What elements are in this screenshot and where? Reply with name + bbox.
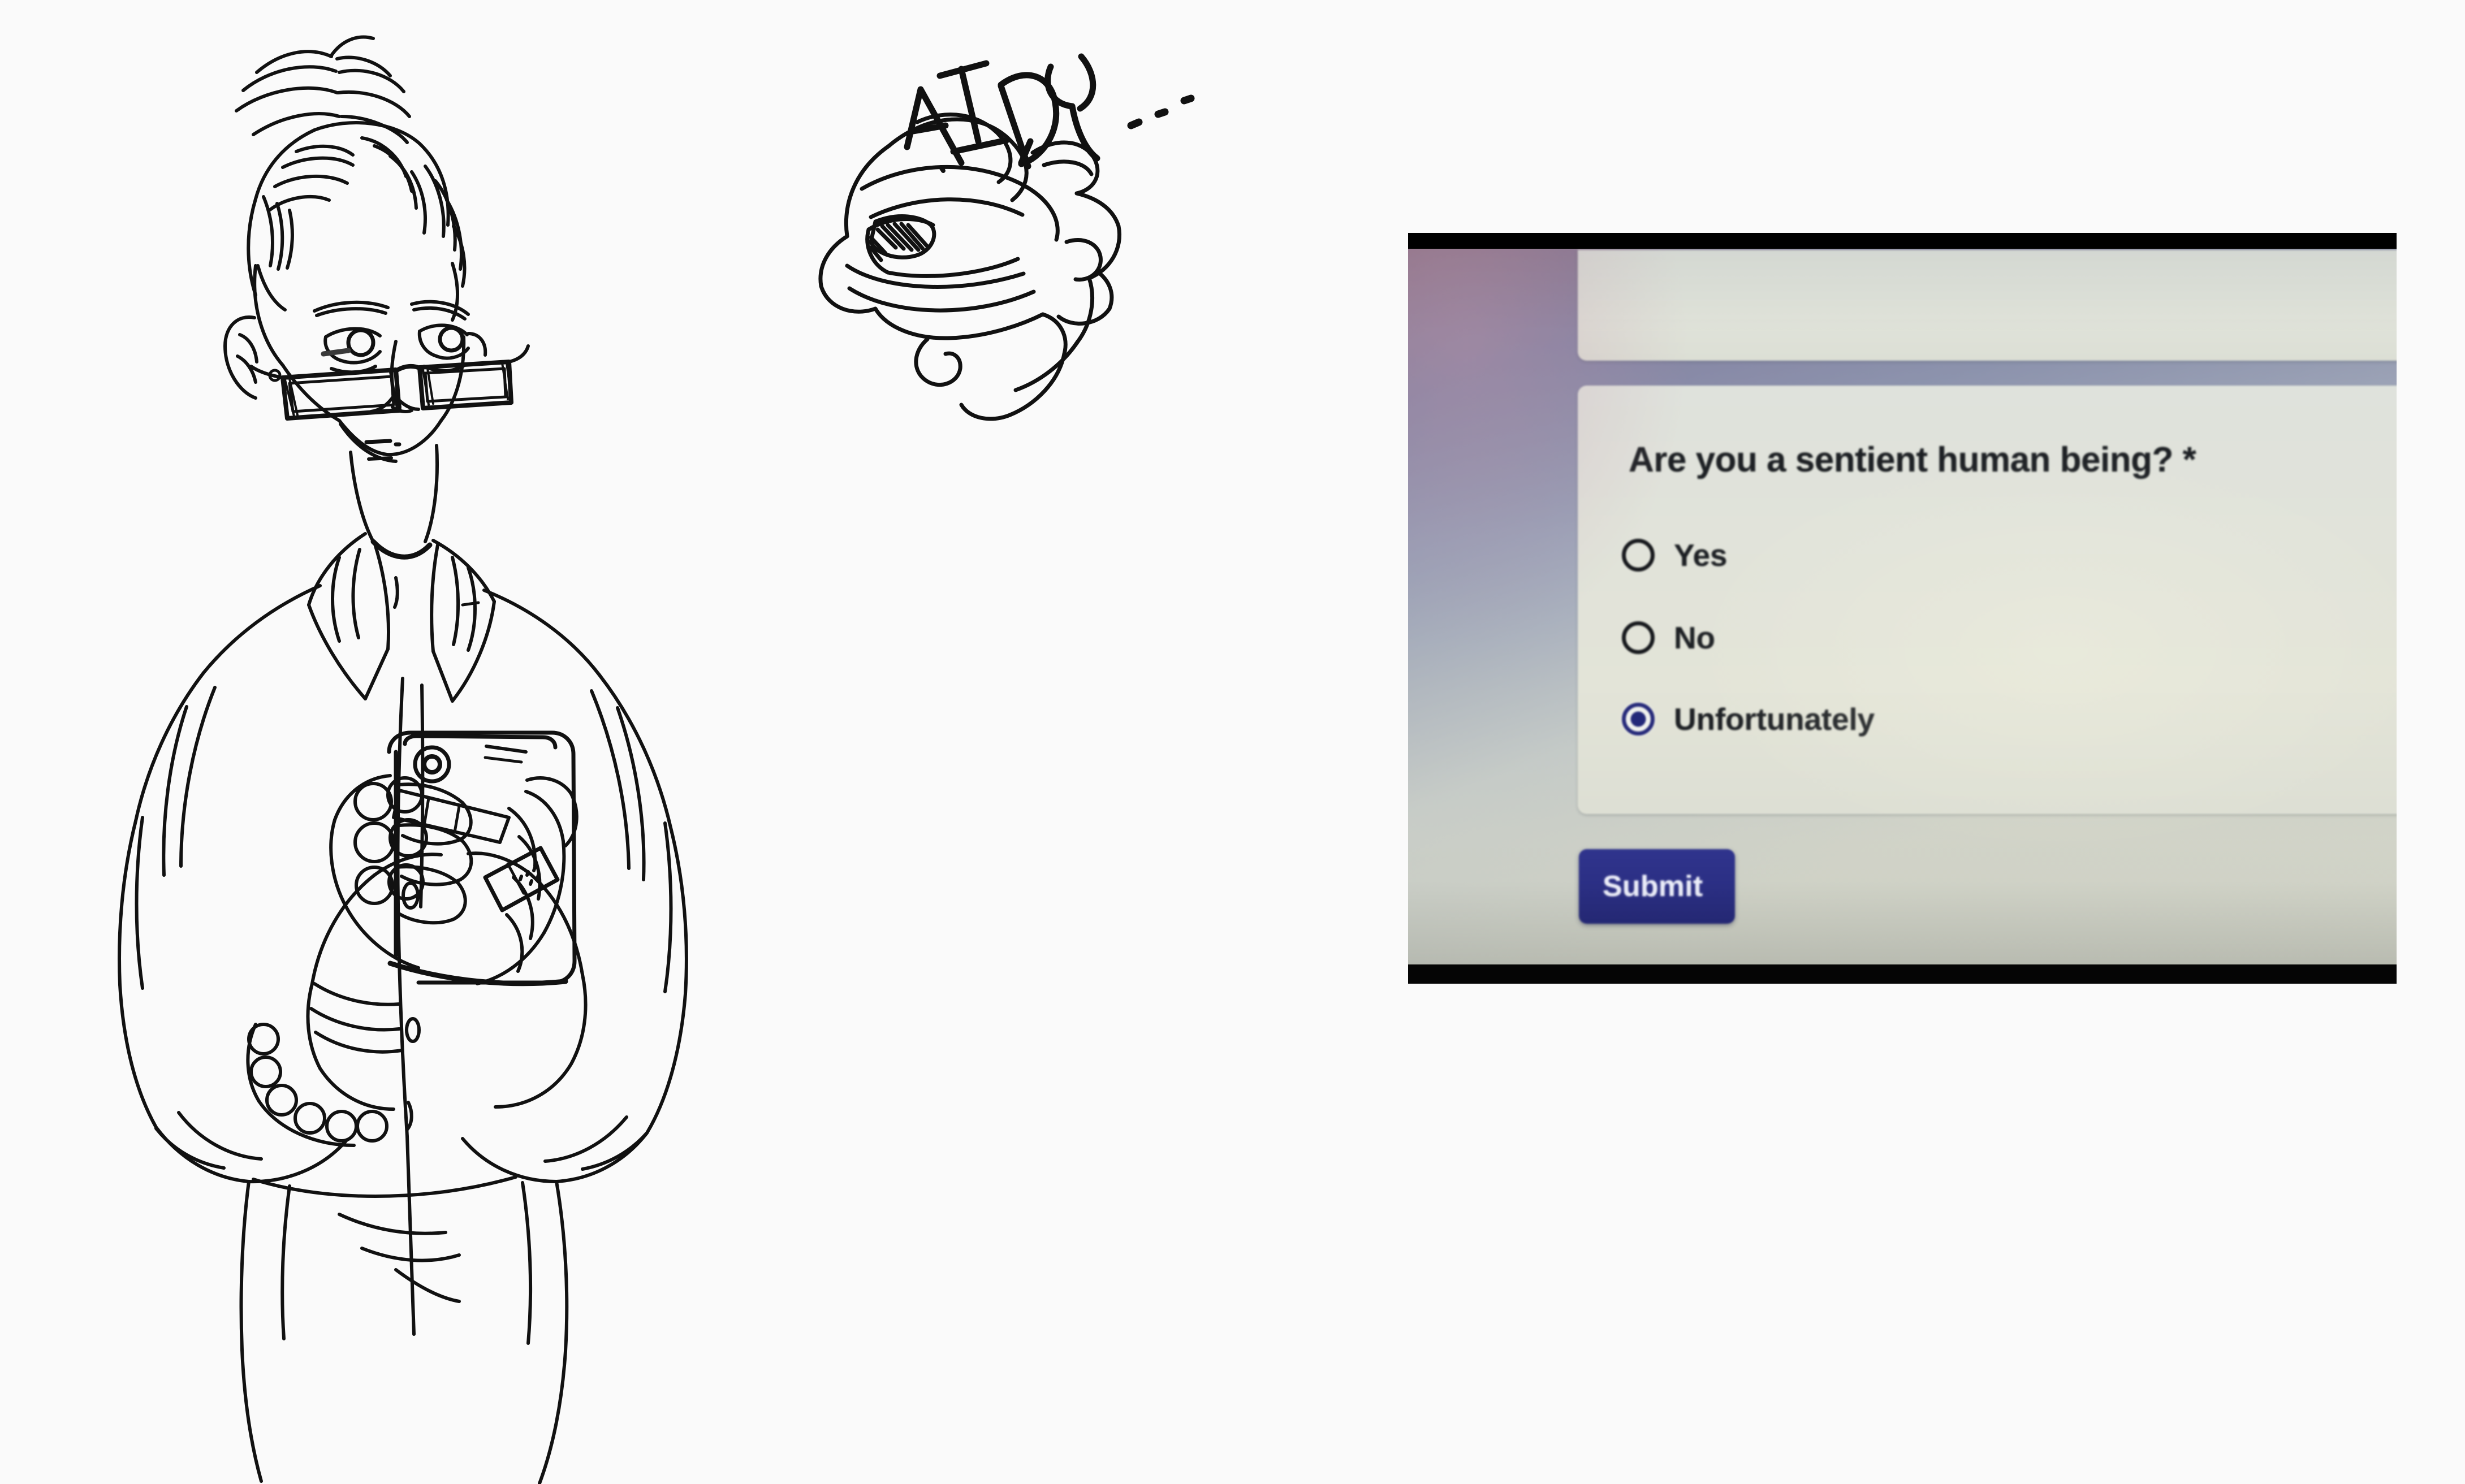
radio-label-no: No [1674,620,1715,656]
submit-button[interactable]: Submit [1579,849,1735,924]
sketch-illustration-panel [0,0,1357,1484]
question-card: Are you a sentient human being? * Yes No… [1578,386,2397,814]
sketch-background [0,0,1357,1484]
radio-label-unfortunately: Unfortunately [1674,701,1875,737]
letterbox-bottom-bar [1408,964,2397,984]
radio-button-unfortunately[interactable] [1622,703,1655,735]
photo-of-screen: Are you a sentient human being? * Yes No… [1408,233,2397,984]
radio-button-no[interactable] [1622,621,1655,654]
radio-option-yes[interactable]: Yes [1622,537,1727,573]
radio-label-yes: Yes [1674,537,1727,573]
sketch-drawing [0,0,1357,1484]
form-header-card [1578,250,2397,361]
radio-option-unfortunately[interactable]: Unfortunately [1622,701,1875,737]
radio-button-yes[interactable] [1622,539,1655,572]
question-label: Are you a sentient human being? * [1629,440,2196,480]
letterbox-top-bar [1408,233,2397,249]
radio-option-no[interactable]: No [1622,620,1715,656]
